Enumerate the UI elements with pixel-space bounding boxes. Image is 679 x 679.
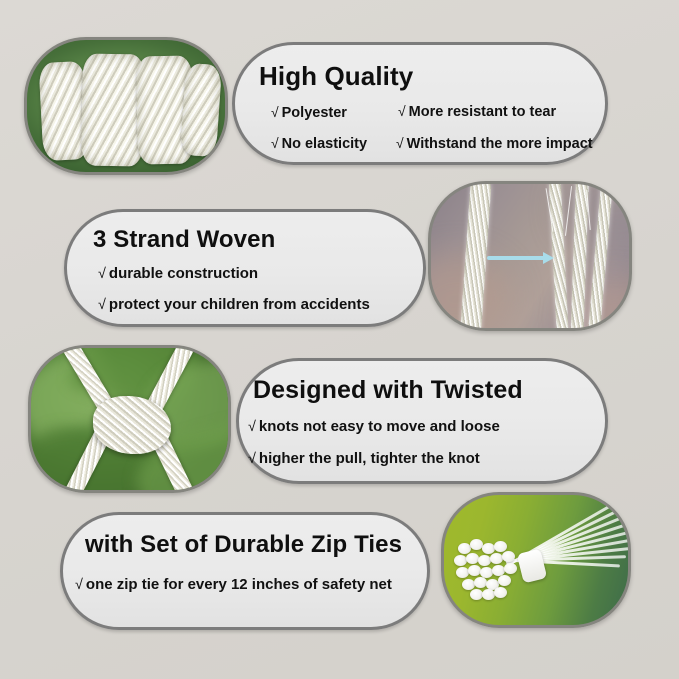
rope-knot-photo [28,345,231,493]
panel-title-designed-with-twisted: Designed with Twisted [253,378,523,403]
panel-title-three-strand-woven: 3 Strand Woven [93,228,275,252]
check-icon: √ [98,266,109,282]
rope-coil-photo [24,37,228,175]
check-icon: √ [396,135,407,151]
bullet-withstand-impact: √Withstand the more impact [396,137,593,152]
feature-card-durable-zip-ties: with Set of Durable Zip Ties √one zip ti… [60,512,430,630]
check-icon: √ [98,297,109,313]
panel-title-durable-zip-ties: with Set of Durable Zip Ties [85,533,402,557]
bullet-polyester: √Polyester [271,106,347,121]
zip-ties-photo [441,492,631,628]
feature-card-designed-with-twisted: Designed with Twisted √knots not easy to… [236,358,608,484]
bullet-label: knots not easy to move and loose [259,418,500,435]
bullet-higher-pull-tighter-knot: √higher the pull, tighter the knot [248,451,480,466]
check-icon: √ [398,103,409,119]
bullet-durable-construction: √durable construction [98,266,258,281]
check-icon: √ [271,135,282,151]
bullet-label: No elasticity [282,136,367,152]
bullet-knots-not-easy-to-move: √knots not easy to move and loose [248,419,500,434]
rope-coil-illustration [27,40,225,172]
check-icon: √ [248,419,259,435]
feature-card-high-quality: High Quality √Polyester √More resistant … [232,42,608,165]
check-icon: √ [75,577,86,593]
panel-title-high-quality: High Quality [259,63,413,89]
feature-card-three-strand-woven: 3 Strand Woven √durable construction √pr… [64,209,426,327]
three-strands-photo [428,181,632,331]
bullet-more-resistant-to-tear: √More resistant to tear [398,105,556,120]
check-icon: √ [248,451,259,467]
bullet-label: Withstand the more impact [407,136,593,152]
bullet-protect-children: √protect your children from accidents [98,297,370,312]
bullet-label: Polyester [282,105,347,121]
bullet-label: one zip tie for every 12 inches of safet… [86,576,392,593]
check-icon: √ [271,104,282,120]
bullet-label: More resistant to tear [409,104,556,120]
bullet-label: higher the pull, tighter the knot [259,450,480,467]
direction-arrow-head [543,252,554,264]
bullet-no-elasticity: √No elasticity [271,137,367,152]
bullet-label: durable construction [109,265,258,282]
bullet-one-zip-tie-per-12-inches: √one zip tie for every 12 inches of safe… [75,577,392,592]
direction-arrow-shaft [487,256,547,260]
bullet-label: protect your children from accidents [109,296,370,313]
infographic-canvas: High Quality √Polyester √More resistant … [0,0,679,679]
